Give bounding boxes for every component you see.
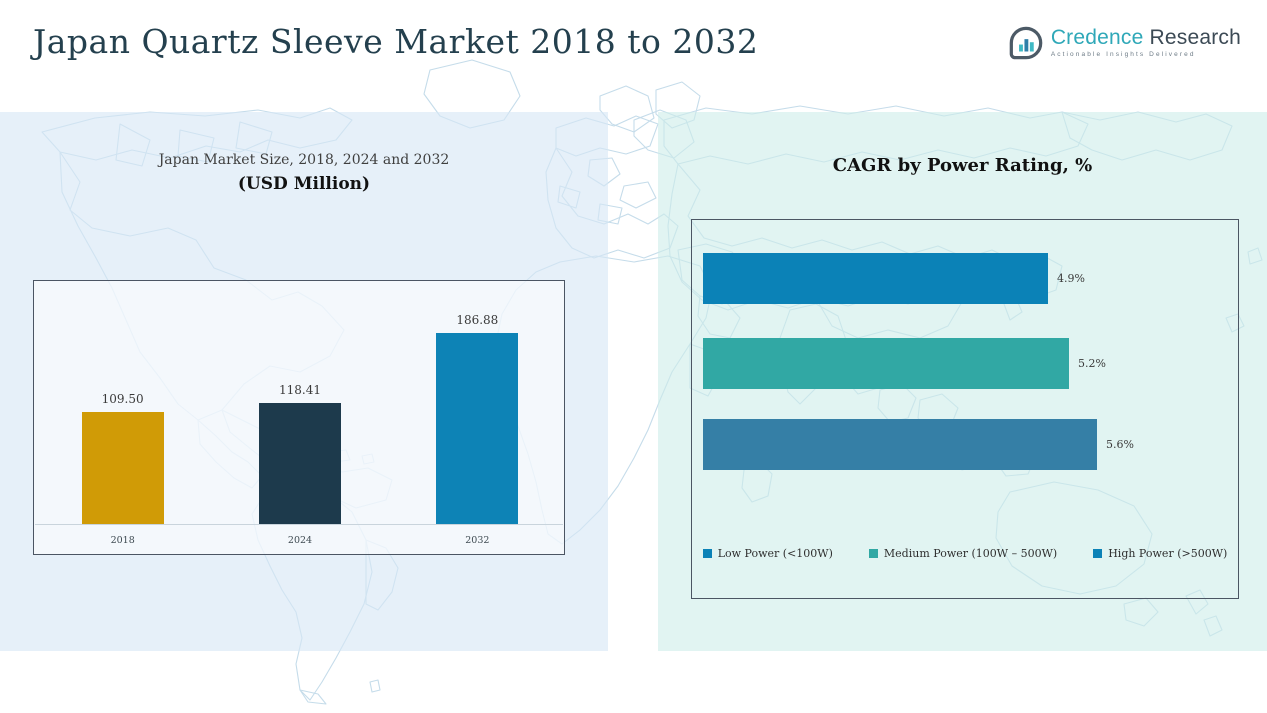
bar-2018 — [82, 412, 164, 524]
legend-item[interactable]: High Power (>500W) — [1093, 547, 1227, 560]
logo-tagline: Actionable Insights Delivered — [1051, 52, 1241, 59]
legend-swatch-icon — [1093, 549, 1102, 558]
page-title: Japan Quartz Sleeve Market 2018 to 2032 — [33, 22, 758, 61]
legend-label: Low Power (<100W) — [718, 547, 833, 560]
legend-swatch-icon — [703, 549, 712, 558]
logo-name-secondary: Research — [1150, 26, 1241, 49]
legend-swatch-icon — [869, 549, 878, 558]
x-axis-tick-label: 2018 — [53, 535, 193, 546]
left-chart-subtitle: (USD Million) — [0, 174, 608, 194]
x-axis-tick-label: 2032 — [407, 535, 547, 546]
bar-row: 4.9% — [703, 253, 1085, 304]
brand-logo: Credence Research Actionable Insights De… — [1009, 26, 1241, 60]
bar-value-label: 186.88 — [407, 313, 547, 327]
legend-label: Medium Power (100W – 500W) — [884, 547, 1057, 560]
japan-market-size-chart: 109.502018118.412024186.882032 — [33, 280, 565, 555]
bar-column — [259, 403, 341, 524]
bar-1 — [703, 253, 1048, 304]
logo-name-primary: Credence — [1051, 26, 1144, 49]
cagr-by-power-rating-chart: Low Power (<100W)Medium Power (100W – 50… — [691, 219, 1239, 599]
chart-legend: Low Power (<100W)Medium Power (100W – 50… — [692, 547, 1238, 560]
bar-column — [436, 333, 518, 524]
header: Japan Quartz Sleeve Market 2018 to 2032 … — [0, 0, 1267, 112]
x-axis-tick-label: 2024 — [230, 535, 370, 546]
legend-item[interactable]: Medium Power (100W – 500W) — [869, 547, 1057, 560]
bar-value-label: 5.6% — [1106, 438, 1134, 451]
legend-label: High Power (>500W) — [1108, 547, 1227, 560]
bar-value-label: 118.41 — [230, 383, 370, 397]
logo-name: Credence Research — [1051, 27, 1241, 48]
bar-2032 — [436, 333, 518, 524]
bar-value-label: 5.2% — [1078, 357, 1106, 370]
right-chart-title: CAGR by Power Rating, % — [658, 155, 1267, 176]
logo-text: Credence Research Actionable Insights De… — [1051, 27, 1241, 59]
bar-chart-bubble-icon — [1009, 26, 1043, 60]
bar-2 — [703, 338, 1069, 389]
bar-column — [82, 412, 164, 524]
bar-3 — [703, 419, 1097, 470]
x-axis-line — [35, 524, 563, 525]
left-chart-title-line1: Japan Market Size, 2018, 2024 and 2032 — [0, 152, 608, 168]
legend-item[interactable]: Low Power (<100W) — [703, 547, 833, 560]
bar-value-label: 109.50 — [53, 392, 193, 406]
bar-row: 5.6% — [703, 419, 1134, 470]
infographic-canvas: Japan Quartz Sleeve Market 2018 to 2032 … — [0, 0, 1267, 713]
bar-row: 5.2% — [703, 338, 1106, 389]
bar-value-label: 4.9% — [1057, 272, 1085, 285]
bar-2024 — [259, 403, 341, 524]
